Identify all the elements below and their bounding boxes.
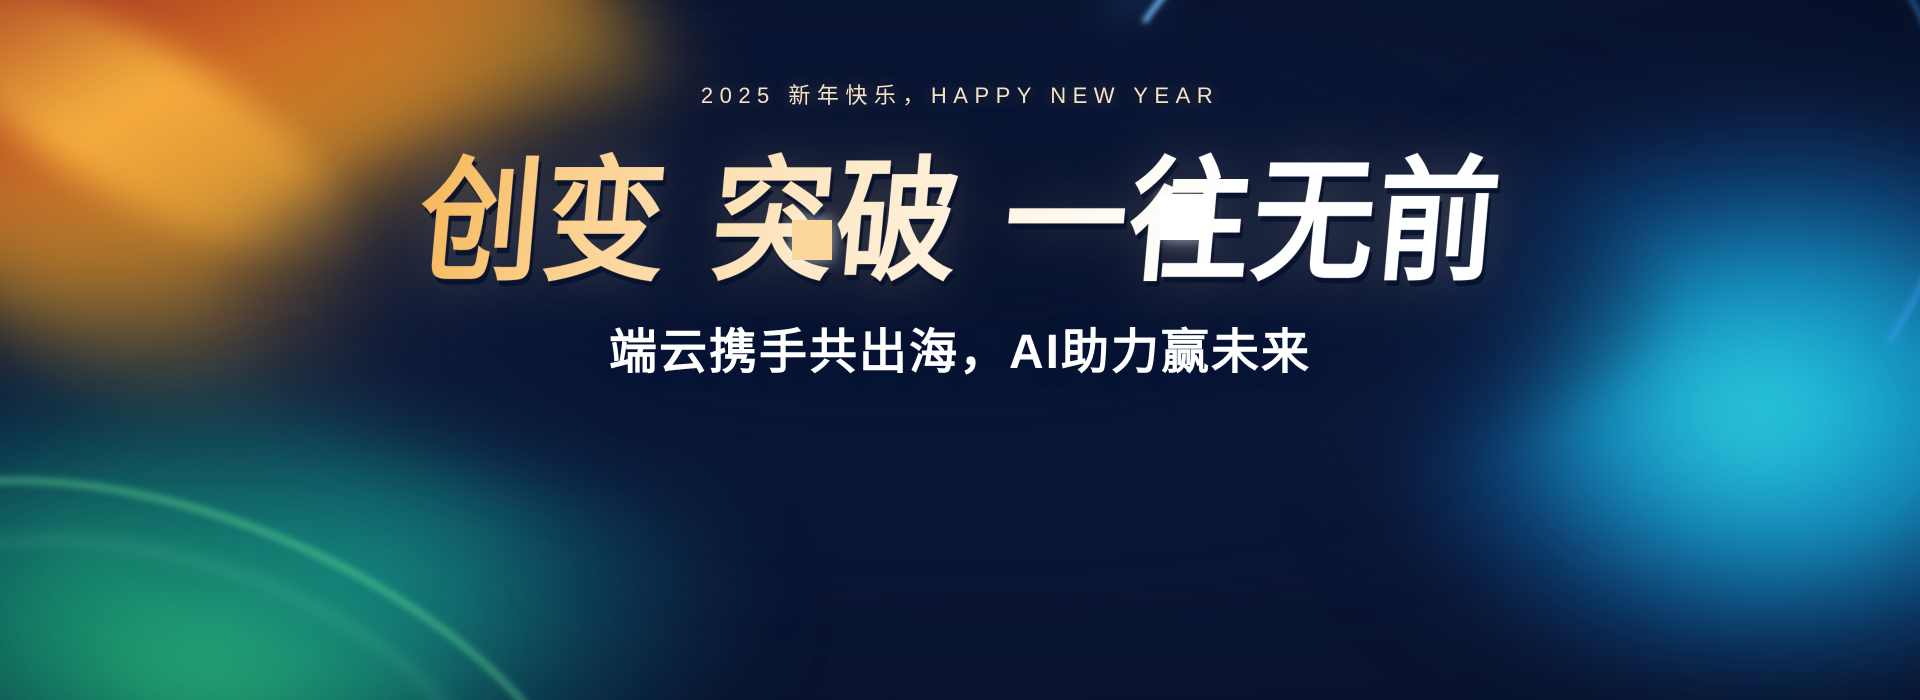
- main-headline: 创变 突破 一往无前: [413, 152, 1506, 293]
- banner-content: 2025 新年快乐，HAPPY NEW YEAR 创变 突破 一往无前 端云携手…: [0, 0, 1920, 700]
- new-year-promo-banner: 2025 新年快乐，HAPPY NEW YEAR 创变 突破 一往无前 端云携手…: [0, 0, 1920, 700]
- subtitle-text: 端云携手共出海，AI助力赢未来: [609, 312, 1311, 382]
- eyebrow-text: 2025 新年快乐，HAPPY NEW YEAR: [701, 78, 1219, 110]
- headline-group: 创变 突破 一往无前: [420, 158, 1501, 286]
